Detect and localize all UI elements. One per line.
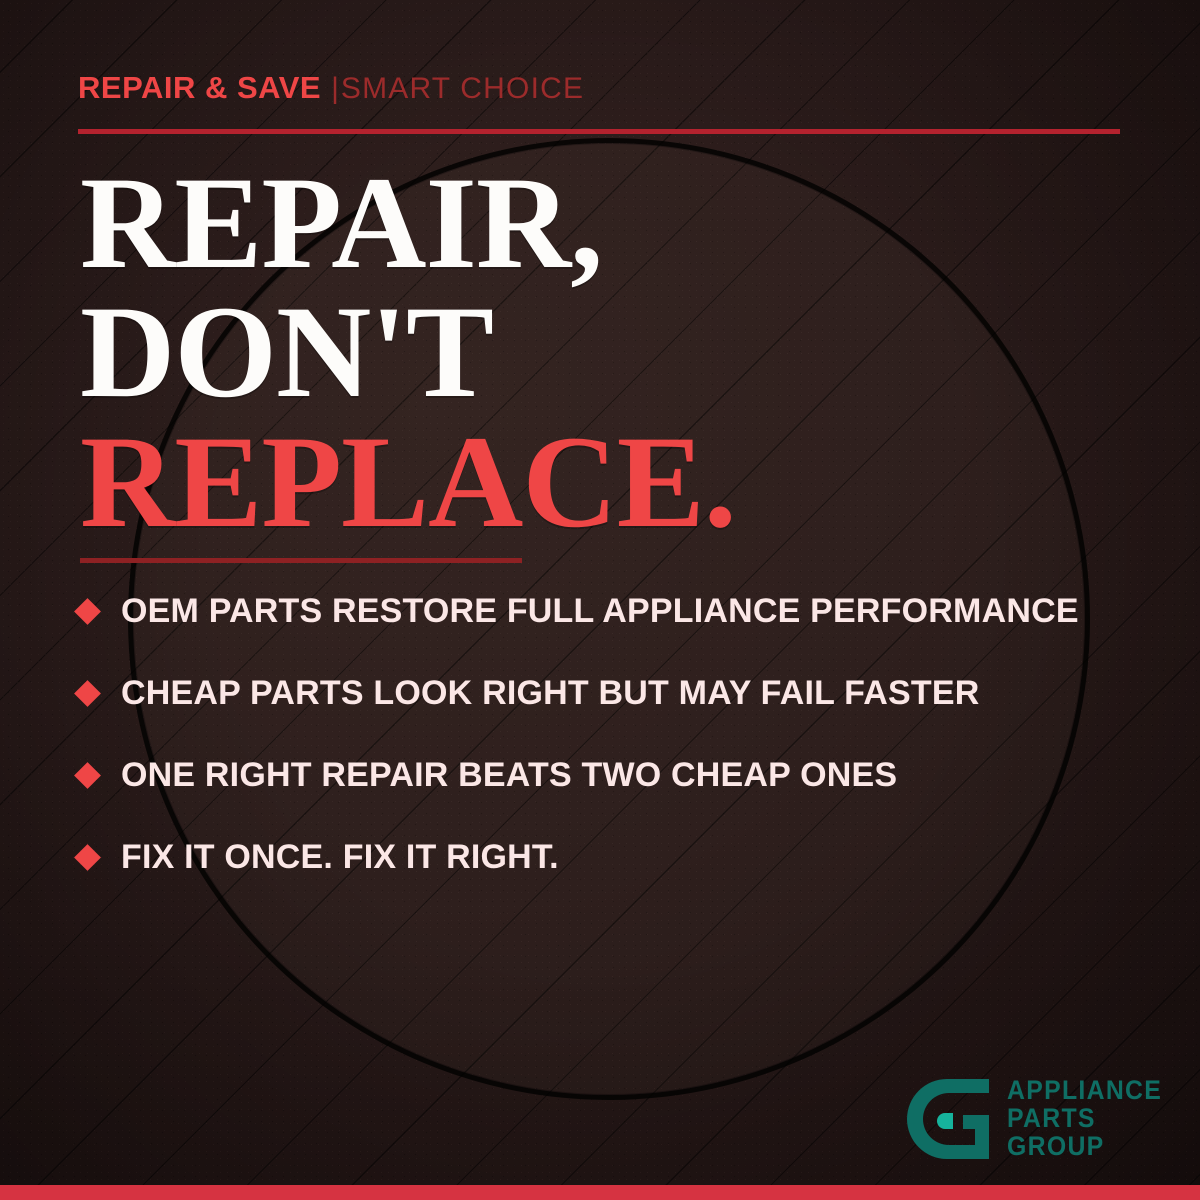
logo-word-line-3: GROUP [1007, 1133, 1162, 1161]
diamond-icon [74, 844, 101, 871]
header-eyebrow: REPAIR & SAVE|SMART CHOICE [78, 72, 584, 104]
section-divider [80, 558, 522, 563]
list-item: CHEAP PARTS LOOK RIGHT BUT MAY FAIL FAST… [78, 670, 1158, 716]
headline-line-1: REPAIR, [80, 158, 736, 287]
headline-line-3: REPLACE. [80, 417, 736, 546]
list-item-label: FIX IT ONCE. FIX IT RIGHT. [121, 838, 559, 877]
logo-word-line-1: APPLIANCE [1007, 1077, 1162, 1105]
benefits-list: OEM PARTS RESTORE FULL APPLIANCE PERFORM… [78, 588, 1158, 880]
list-item-label: CHEAP PARTS LOOK RIGHT BUT MAY FAIL FAST… [121, 674, 979, 713]
diamond-icon [74, 762, 101, 789]
list-item: OEM PARTS RESTORE FULL APPLIANCE PERFORM… [78, 588, 1158, 634]
list-item-label: OEM PARTS RESTORE FULL APPLIANCE PERFORM… [121, 592, 1079, 631]
diamond-icon [74, 598, 101, 625]
g-monogram-icon [901, 1075, 993, 1172]
poster-content: REPAIR & SAVE|SMART CHOICE REPAIR, DON'T… [0, 0, 1200, 1200]
header-rule [78, 129, 1120, 134]
eyebrow-subtitle: SMART CHOICE [341, 72, 584, 105]
headline-line-2: DON'T [80, 287, 736, 416]
bottom-accent-bar [0, 1185, 1200, 1200]
poster-canvas: REPAIR & SAVE|SMART CHOICE REPAIR, DON'T… [0, 0, 1200, 1200]
list-item: ONE RIGHT REPAIR BEATS TWO CHEAP ONES [78, 752, 1158, 798]
brand-logo: APPLIANCE PARTS GROUP [901, 1075, 1176, 1172]
list-item-label: ONE RIGHT REPAIR BEATS TWO CHEAP ONES [121, 756, 897, 795]
page-title: REPAIR, DON'T REPLACE. [80, 158, 736, 546]
diamond-icon [74, 680, 101, 707]
eyebrow-kicker: REPAIR & SAVE [78, 70, 321, 105]
logo-word-line-2: PARTS [1007, 1105, 1162, 1133]
logo-wordmark: APPLIANCE PARTS GROUP [1007, 1075, 1162, 1160]
eyebrow-separator: | [331, 72, 339, 105]
list-item: FIX IT ONCE. FIX IT RIGHT. [78, 834, 1158, 880]
